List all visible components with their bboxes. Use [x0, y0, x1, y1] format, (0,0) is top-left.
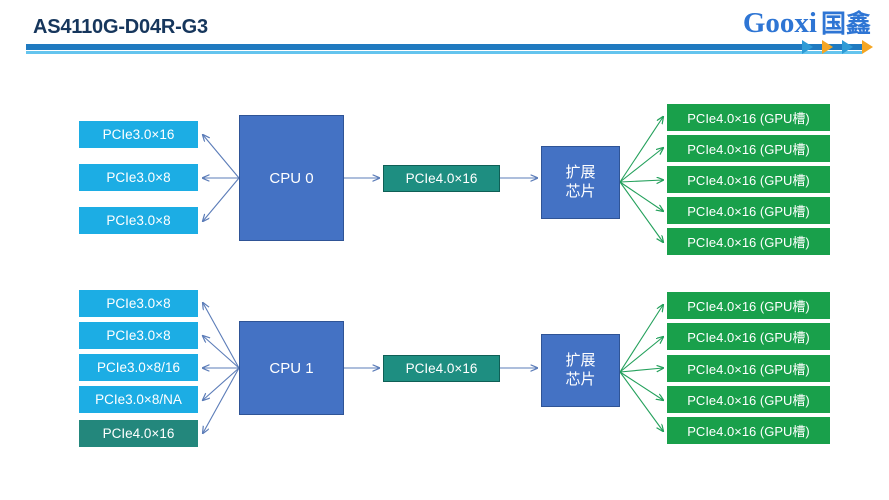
pcie-slot-box[interactable]: PCIe3.0×16	[79, 121, 198, 148]
gpu-slot-box[interactable]: PCIe4.0×16 (GPU槽)	[667, 386, 830, 413]
cpu-box[interactable]: CPU 0	[239, 115, 344, 241]
gpu-slot-box[interactable]: PCIe4.0×16 (GPU槽)	[667, 355, 830, 382]
cpu-to-chip-link-box[interactable]: PCIe4.0×16	[383, 355, 500, 382]
pcie-slot-box[interactable]: PCIe3.0×8/NA	[79, 386, 198, 413]
pcie-slot-box[interactable]: PCIe3.0×8	[79, 290, 198, 317]
expansion-chip-label-line2: 芯片	[565, 371, 595, 390]
gpu-slot-box[interactable]: PCIe4.0×16 (GPU槽)	[667, 104, 830, 131]
gpu-slot-box[interactable]: PCIe4.0×16 (GPU槽)	[667, 292, 830, 319]
gpu-slot-box[interactable]: PCIe4.0×16 (GPU槽)	[667, 323, 830, 350]
gpu-slot-box[interactable]: PCIe4.0×16 (GPU槽)	[667, 417, 830, 444]
pcie-slot-box[interactable]: PCIe3.0×8	[79, 322, 198, 349]
expansion-chip-label-line2: 芯片	[565, 183, 595, 202]
gpu-slot-box[interactable]: PCIe4.0×16 (GPU槽)	[667, 228, 830, 255]
expansion-chip-box[interactable]: 扩展 芯片	[541, 334, 620, 407]
cpu-box[interactable]: CPU 1	[239, 321, 344, 415]
gpu-slot-box[interactable]: PCIe4.0×16 (GPU槽)	[667, 166, 830, 193]
expansion-chip-label-line1: 扩展	[565, 352, 595, 371]
gpu-slot-box[interactable]: PCIe4.0×16 (GPU槽)	[667, 135, 830, 162]
expansion-chip-box[interactable]: 扩展 芯片	[541, 146, 620, 219]
pcie-slot-box[interactable]: PCIe3.0×8/16	[79, 354, 198, 381]
expansion-chip-label-line1: 扩展	[565, 164, 595, 183]
cpu-to-chip-link-box[interactable]: PCIe4.0×16	[383, 165, 500, 192]
gpu-slot-box[interactable]: PCIe4.0×16 (GPU槽)	[667, 197, 830, 224]
pcie-slot-box[interactable]: PCIe4.0×16	[79, 420, 198, 447]
pcie-slot-box[interactable]: PCIe3.0×8	[79, 164, 198, 191]
pcie-slot-box[interactable]: PCIe3.0×8	[79, 207, 198, 234]
block-diagram: PCIe3.0×16 PCIe3.0×8 PCIe3.0×8 CPU 0 PCI…	[0, 0, 889, 500]
